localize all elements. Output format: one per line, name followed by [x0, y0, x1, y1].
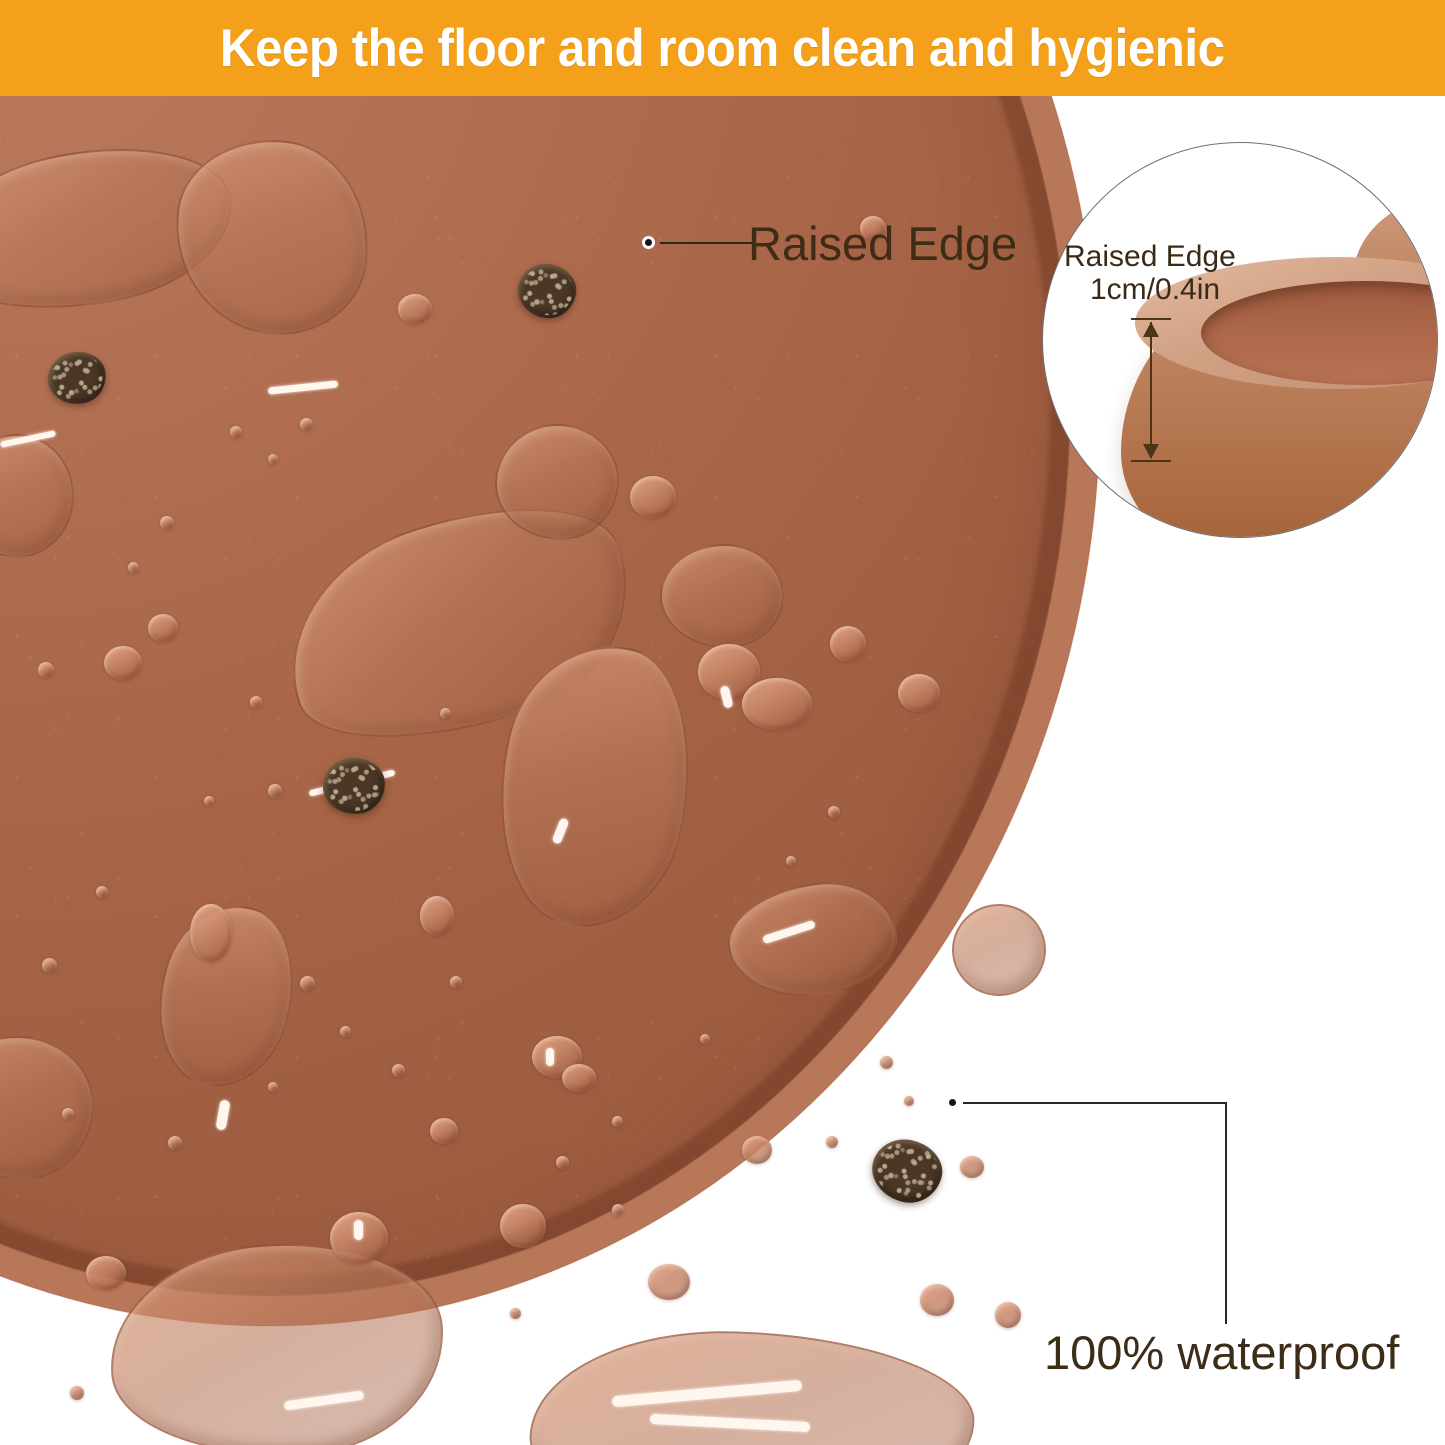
water-droplet [648, 1264, 690, 1300]
dimension-cap-top [1131, 318, 1171, 320]
raised-edge-label: Raised Edge [748, 216, 1017, 271]
water-droplet [920, 1284, 954, 1316]
product-image-stage: Keep the floor and room clean and hygien… [0, 0, 1445, 1445]
waterproof-label: 100% waterproof [1044, 1325, 1399, 1380]
water-speckle [904, 1096, 914, 1106]
dimension-cap-bottom [1131, 460, 1171, 462]
raised-edge-inset-circle [1042, 142, 1438, 538]
promo-banner: Keep the floor and room clean and hygien… [0, 0, 1445, 96]
inset-mat-floor [1201, 281, 1438, 385]
banner-headline: Keep the floor and room clean and hygien… [220, 18, 1225, 79]
water-puddle [952, 904, 1046, 996]
dimension-arrow-down-icon [1143, 444, 1159, 459]
dimension-arrow-up-icon [1143, 322, 1159, 337]
specular-highlight [612, 1380, 802, 1408]
water-droplet [960, 1156, 984, 1178]
water-puddle [527, 1324, 978, 1445]
specular-highlight [284, 1390, 364, 1410]
water-droplet [995, 1302, 1021, 1328]
waterproof-leader-vertical [1225, 1102, 1227, 1324]
raised-edge-leader-line [660, 242, 755, 244]
water-speckle [826, 1136, 838, 1148]
waterproof-leader-horizontal [963, 1102, 1227, 1104]
specular-highlight [650, 1414, 810, 1432]
pet-mat-disc [0, 96, 1100, 1326]
water-speckle [70, 1386, 84, 1400]
waterproof-marker-dot [946, 1096, 959, 1109]
inset-label-raised-edge: Raised Edge [1064, 240, 1236, 274]
raised-edge-marker-dot [642, 236, 655, 249]
water-speckle [880, 1056, 893, 1069]
kibble-piece [866, 1132, 949, 1209]
water-speckle [510, 1308, 521, 1319]
dimension-line [1150, 322, 1152, 458]
inset-label-dimension: 1cm/0.4in [1090, 273, 1220, 307]
mat-raised-rim [0, 96, 1100, 1326]
